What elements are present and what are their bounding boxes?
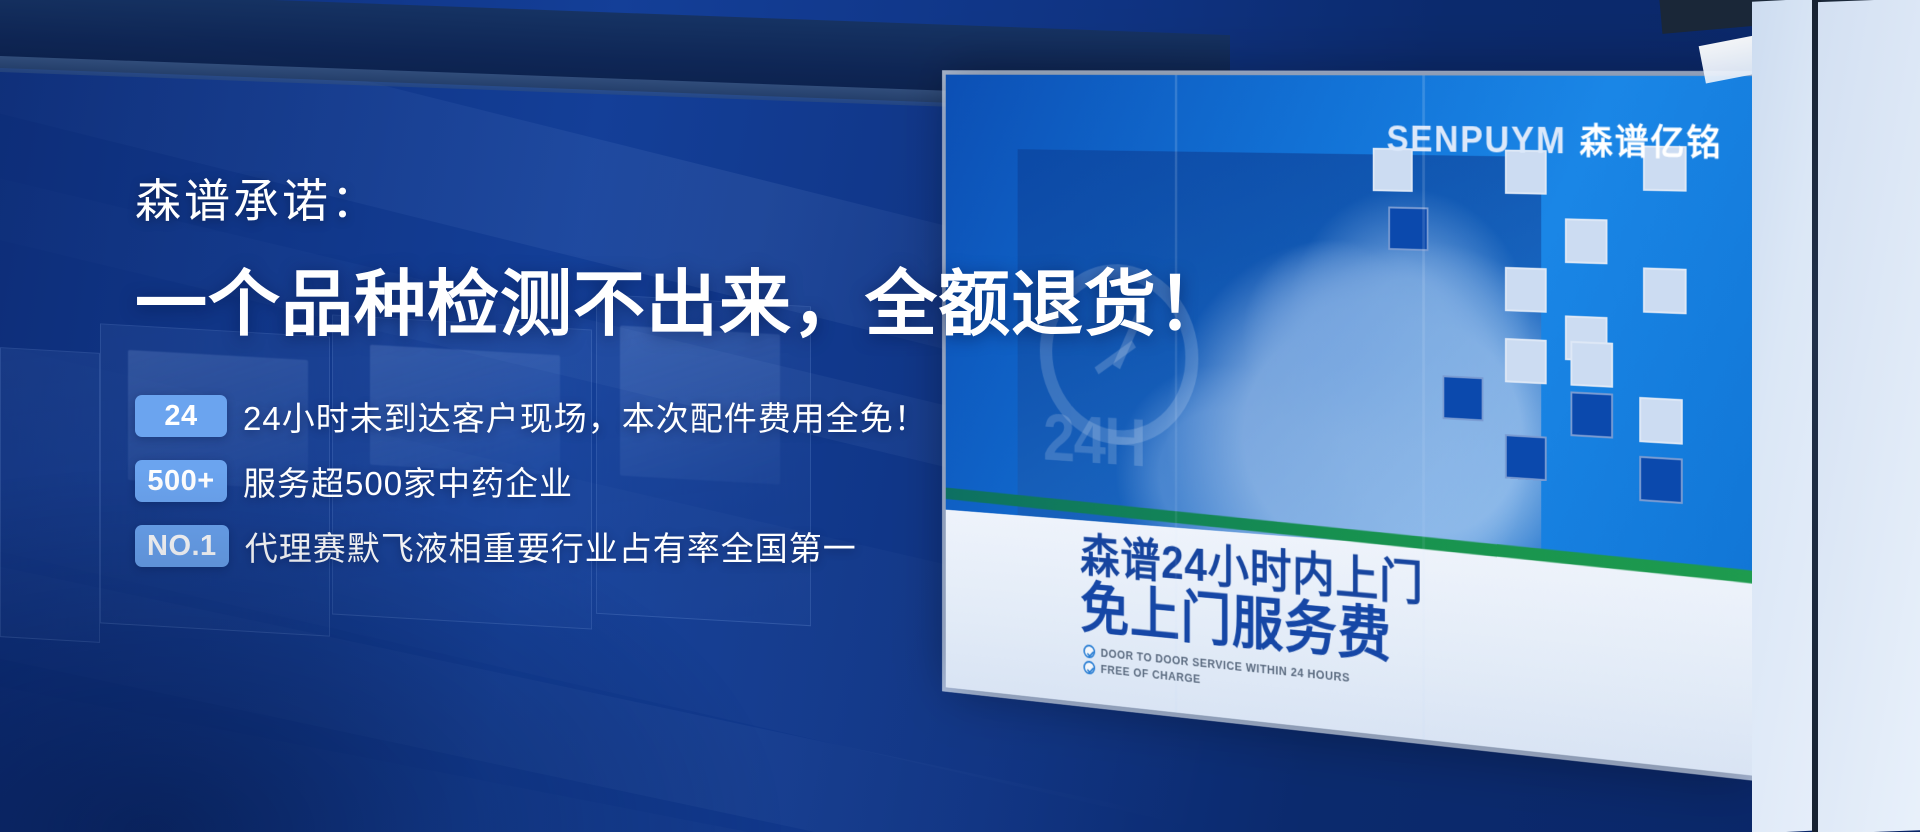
bullet-text: 24小时未到达客户现场，本次配件费用全免！	[243, 392, 928, 440]
wall-panel-0	[0, 347, 100, 643]
poster-stage: 24H SENPUYM 森谱亿铭 森谱24小时内上门	[0, 0, 1920, 832]
check-circle-icon	[1083, 660, 1095, 675]
marketing-copy: 森谱承诺： 一个品种检测不出来，全额退货！ 24 24小时未到达客户现场，本次配…	[135, 165, 1215, 570]
list-item: 24 24小时未到达客户现场，本次配件费用全免！	[135, 392, 1215, 440]
bullet-text: 代理赛默飞液相重要行业占有率全国第一	[245, 522, 857, 570]
bullet-text: 服务超500家中药企业	[243, 457, 573, 505]
logo-text-cn: 森谱亿铭	[1579, 114, 1722, 167]
list-item: 500+ 服务超500家中药企业	[135, 457, 1215, 505]
bullet-list: 24 24小时未到达客户现场，本次配件费用全免！ 500+ 服务超500家中药企…	[135, 392, 1215, 570]
billboard-mullion-2	[1422, 75, 1425, 739]
status-badge: 24	[135, 395, 227, 437]
eyebrow-text: 森谱承诺：	[135, 165, 1215, 231]
list-item: NO.1 代理赛默飞液相重要行业占有率全国第一	[135, 522, 1215, 570]
mosaic-pattern	[1373, 148, 1738, 572]
glass-panel-1	[1752, 0, 1820, 832]
glass-panel-2	[1818, 0, 1920, 832]
status-badge: 500+	[135, 460, 227, 502]
billboard-logo: SENPUYM 森谱亿铭	[1386, 112, 1722, 166]
check-circle-icon	[1083, 644, 1095, 659]
main-headline: 一个品种检测不出来，全额退货！	[135, 245, 1215, 350]
status-badge: NO.1	[135, 525, 229, 567]
logo-text-en: SENPUYM	[1386, 120, 1566, 163]
